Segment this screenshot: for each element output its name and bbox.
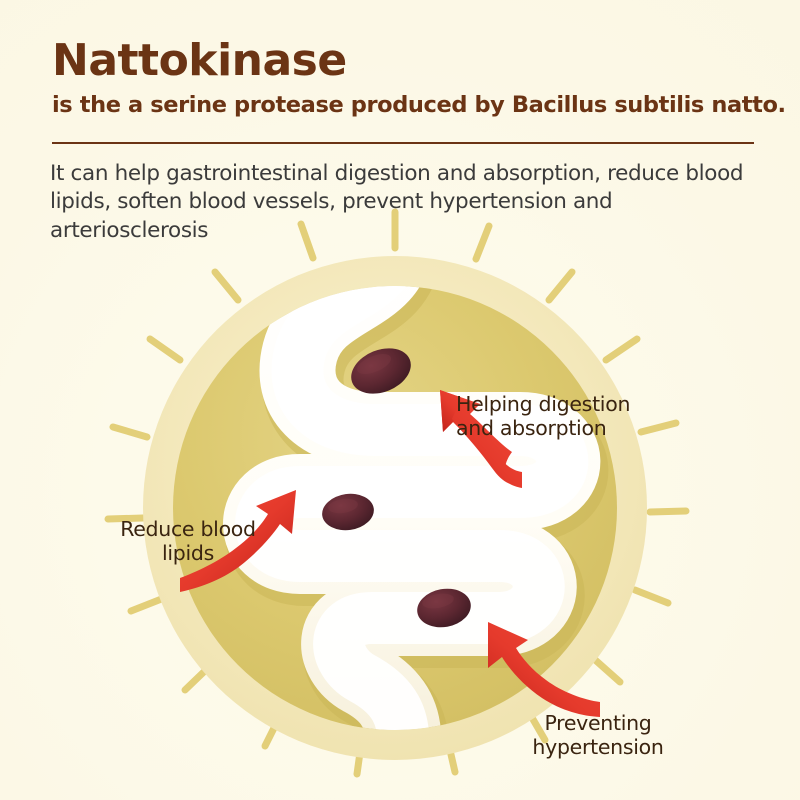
annotation-preventing-hypertension: Preventing hypertension xyxy=(528,712,668,760)
annotation-reduce-blood-lipids: Reduce blood lipids xyxy=(118,518,258,566)
annotation-helping-digestion: Helping digestion and absorption xyxy=(456,393,630,441)
poster-root: Nattokinase is the a serine protease pro… xyxy=(0,0,800,800)
intestine-illustration xyxy=(0,0,800,800)
